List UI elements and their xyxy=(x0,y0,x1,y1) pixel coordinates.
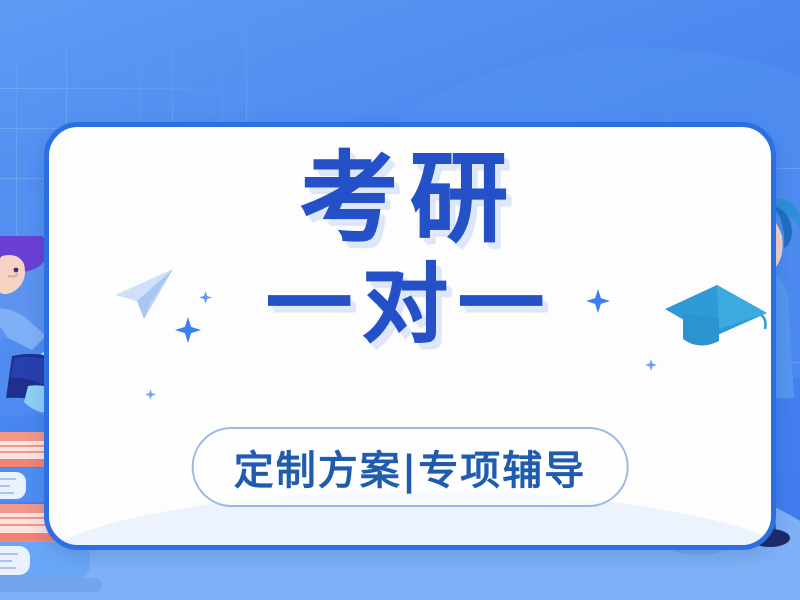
content-card: 考研 一对一 定制方案|专项辅导 xyxy=(44,122,776,550)
headline-line-1: 考研 xyxy=(49,149,771,251)
promo-banner: 考研 一对一 定制方案|专项辅导 xyxy=(0,0,800,600)
subtitle-pill-label: 定制方案|专项辅导 xyxy=(234,438,587,496)
subtitle-pill: 定制方案|专项辅导 xyxy=(192,427,629,507)
sparkle-icon xyxy=(586,289,610,313)
graduation-cap-icon xyxy=(661,279,771,359)
sparkle-icon xyxy=(145,389,156,400)
sparkle-icon xyxy=(645,359,657,371)
sparkle-icon xyxy=(175,317,201,343)
paper-plane-icon xyxy=(111,267,177,321)
sparkle-icon xyxy=(199,291,212,304)
